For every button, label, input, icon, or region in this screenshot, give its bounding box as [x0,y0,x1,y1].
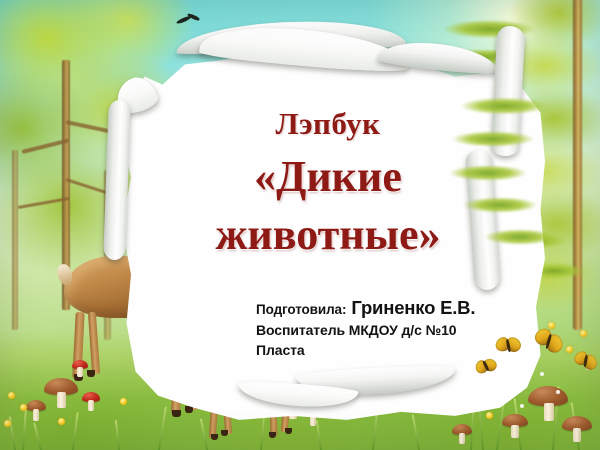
mushroom-stem [57,392,66,408]
tree-trunk-left-2 [12,150,18,330]
mushroom-icon [502,414,528,436]
mushroom-stem [88,400,94,411]
flower-icon [548,322,555,329]
title-block: Лэпбук «Дикие животные» [128,108,528,257]
flower-icon [486,412,493,419]
mushroom-stem [511,425,519,438]
pine-branch-shelf [430,14,548,44]
mushroom-icon [44,378,78,406]
presentation-slide: Лэпбук «Дикие животные» Подготовила:Грин… [0,0,600,450]
fawn-hoof [269,432,276,438]
fawn-hoof [211,434,218,440]
mushroom-stem [573,428,581,442]
mushroom-icon [528,386,568,418]
flower-icon [8,392,15,399]
butterfly-icon [572,350,599,374]
mushroom-icon-red [72,360,88,374]
bird-icon [176,14,202,26]
mushroom-icon-red [82,392,100,408]
flower-icon [566,346,573,353]
mushroom-icon [26,400,46,418]
credits-row-author: Подготовила:Гриненко Е.В. [256,296,475,320]
credits-block: Подготовила:Гриненко Е.В. Воспитатель МК… [256,296,475,360]
mushroom-stem [544,403,554,421]
close-guillemet: » [418,210,440,259]
fawn-hoof [285,428,292,434]
page-title-wild: «Дикие [128,155,528,199]
deer-hoof [87,370,95,377]
fawn-hoof [221,430,228,436]
flower-icon [58,418,65,425]
mushroom-stem [77,367,83,377]
flower-icon-white [540,372,544,376]
credits-city: Пласта [256,342,475,360]
open-guillemet: « [254,152,276,201]
flower-icon-white [520,404,524,408]
flower-icon [20,404,27,411]
credits-role: Воспитатель МКДОУ д/с №10 [256,322,475,340]
flower-icon [580,330,587,337]
flower-icon [4,420,11,427]
title-word-animals: животные [216,210,419,259]
flower-icon [120,398,127,405]
deer-leg [88,312,100,374]
page-title-animals: животные» [128,213,528,257]
mushroom-stem [33,409,39,421]
credits-prepared-label: Подготовила: [256,302,346,317]
mushroom-icon [452,424,472,442]
flower-icon-white [556,390,560,394]
mushroom-stem [459,433,465,444]
page-title-lapbook: Лэпбук [128,108,528,139]
title-word-wild: Дикие [276,152,402,201]
credits-author-name: Гриненко Е.В. [351,297,475,318]
mushroom-icon [562,416,592,440]
